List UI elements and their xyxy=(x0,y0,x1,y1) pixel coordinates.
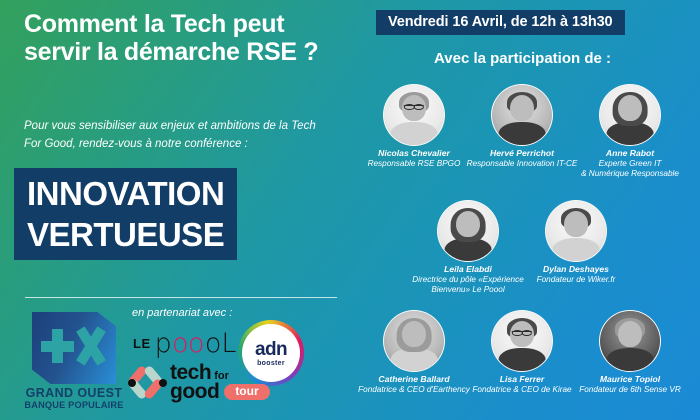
poool-prefix: LE xyxy=(133,336,151,351)
speaker-card: Nicolas Chevalier Responsable RSE BPGO xyxy=(355,84,473,169)
speaker-name: Catherine Ballard xyxy=(355,375,473,385)
left-column: Comment la Tech peut servir la démarche … xyxy=(0,0,345,420)
speaker-name: Lisa Ferrer xyxy=(463,375,581,385)
avatar xyxy=(383,310,445,372)
speaker-name: Leila Elabdi xyxy=(409,265,527,275)
adn-wordmark: adn xyxy=(255,340,287,359)
tfg-tour-badge: tour xyxy=(224,384,269,400)
event-date-badge: Vendredi 16 Avril, de 12h à 13h30 xyxy=(376,10,625,35)
poool-glyph-ol: oL xyxy=(205,333,237,355)
speaker-role: Fondateur de 6th Sense VR xyxy=(571,385,689,395)
le-poool-logo: LE p o o oL xyxy=(133,333,236,355)
speaker-role: Responsable Innovation IT-CE xyxy=(463,159,581,169)
speaker-card: Maurice Topiol Fondateur de 6th Sense VR xyxy=(571,310,689,395)
speaker-role: Directrice du pôle «Expérience Bienvenu»… xyxy=(409,275,527,294)
right-column: Vendredi 16 Avril, de 12h à 13h30 Avec l… xyxy=(345,0,700,420)
participation-heading: Avec la participation de : xyxy=(345,50,700,67)
speaker-role: Fondatrice & CEO de Kirae xyxy=(463,385,581,395)
partner-label: en partenariat avec : xyxy=(132,307,232,319)
tech-for-good-tour-logo: tech for good tour xyxy=(128,363,270,402)
poool-glyph-o1: o xyxy=(172,333,189,355)
avatar xyxy=(491,84,553,146)
speaker-name: Hervé Perrichot xyxy=(463,149,581,159)
speaker-name: Anne Rabot xyxy=(571,149,689,159)
poster-subhead: Pour vous sensibiliser aux enjeux et amb… xyxy=(24,118,329,154)
avatar xyxy=(599,310,661,372)
poool-glyph-p: p xyxy=(155,333,172,355)
event-title-block: INNOVATION VERTUEUSE xyxy=(14,168,237,260)
tfg-wordmark: tech for good tour xyxy=(170,363,270,402)
plus-icon xyxy=(41,329,73,363)
x-icon xyxy=(74,328,108,364)
poool-glyph-o2: o xyxy=(188,333,205,355)
speaker-card: Leila Elabdi Directrice du pôle «Expérie… xyxy=(409,200,527,294)
speaker-card: Lisa Ferrer Fondatrice & CEO de Kirae xyxy=(463,310,581,395)
plus-x-mark-icon xyxy=(32,312,116,384)
speaker-role: Fondatrice & CEO d'Earthency xyxy=(355,385,473,395)
speaker-name: Nicolas Chevalier xyxy=(355,149,473,159)
speaker-card: Catherine Ballard Fondatrice & CEO d'Ear… xyxy=(355,310,473,395)
bp-logo-name: GRAND OUEST xyxy=(18,386,130,400)
bp-logo-sub: BANQUE POPULAIRE xyxy=(18,400,130,410)
section-divider xyxy=(25,297,337,298)
avatar xyxy=(437,200,499,262)
conference-poster: Comment la Tech peut servir la démarche … xyxy=(0,0,700,420)
speaker-card: Hervé Perrichot Responsable Innovation I… xyxy=(463,84,581,169)
speaker-role: Experte Green IT & Numérique Responsable xyxy=(571,159,689,178)
avatar xyxy=(383,84,445,146)
event-title-line-1: INNOVATION xyxy=(14,168,237,217)
speaker-role: Fondateur de Wiker.fr xyxy=(517,275,635,285)
speaker-name: Dylan Deshayes xyxy=(517,265,635,275)
speaker-card: Dylan Deshayes Fondateur de Wiker.fr xyxy=(517,200,635,285)
avatar xyxy=(545,200,607,262)
page-title: Comment la Tech peut servir la démarche … xyxy=(24,10,324,66)
tfg-good-text: good xyxy=(170,382,219,401)
speaker-card: Anne Rabot Experte Green IT & Numérique … xyxy=(571,84,689,178)
tfg-dot-right xyxy=(159,379,167,387)
avatar xyxy=(491,310,553,372)
tfg-bowtie-icon xyxy=(128,363,168,401)
poool-wordmark: p o o oL xyxy=(155,333,237,355)
avatar xyxy=(599,84,661,146)
banque-populaire-logo: GRAND OUEST BANQUE POPULAIRE xyxy=(18,312,130,410)
event-title-line-2: VERTUEUSE xyxy=(14,215,237,261)
tfg-line-2: good tour xyxy=(170,382,270,401)
speaker-name: Maurice Topiol xyxy=(571,375,689,385)
speaker-role: Responsable RSE BPGO xyxy=(355,159,473,169)
